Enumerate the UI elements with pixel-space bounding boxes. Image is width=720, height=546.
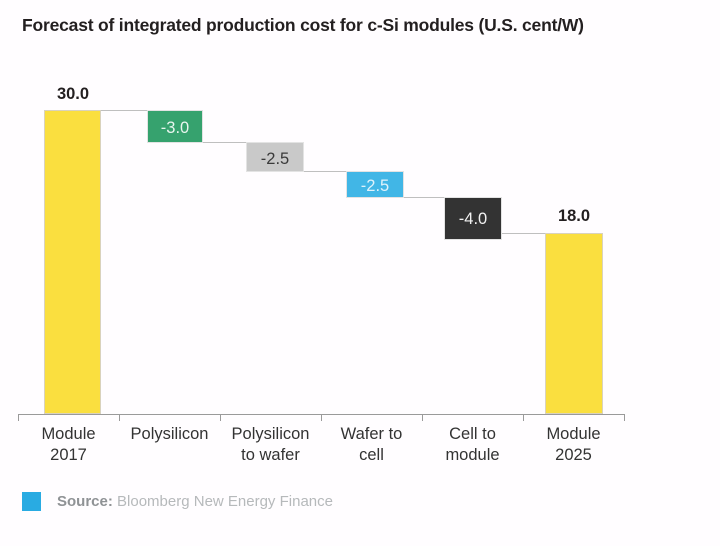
axis-label-line-2: 2025 xyxy=(523,445,624,466)
axis-label-line-2: cell xyxy=(321,445,422,466)
source-value: Bloomberg New Energy Finance xyxy=(113,493,333,510)
axis-label-module-2017: Module 2017 xyxy=(18,424,119,465)
axis-label-line-2: module xyxy=(422,445,523,466)
axis-tick-0 xyxy=(18,414,19,421)
axis-label-line-1: Module xyxy=(523,424,624,445)
axis-tick-6 xyxy=(624,414,625,421)
source-text: Source: Bloomberg New Energy Finance xyxy=(57,493,333,510)
source-label: Source: xyxy=(57,493,113,510)
bar-value-label-module-2017: 30.0 xyxy=(34,86,112,103)
bar-cell-to-module[interactable]: -4.0 xyxy=(444,197,502,240)
bar-value-label-polysilicon: -3.0 xyxy=(148,120,202,137)
axis-label-wafer-to-cell: Wafer to cell xyxy=(321,424,422,465)
axis-label-polysilicon: Polysilicon xyxy=(119,424,220,445)
bar-wafer-to-cell[interactable]: -2.5 xyxy=(346,171,404,198)
connector-2 xyxy=(202,142,247,143)
legend-swatch-icon xyxy=(22,492,41,511)
axis-label-polysilicon-to-wafer: Polysilicon to wafer xyxy=(220,424,321,465)
bar-value-label-polysilicon-to-wafer: -2.5 xyxy=(247,151,303,168)
axis-label-line-1: Cell to xyxy=(422,424,523,445)
axis-label-line-1: Polysilicon xyxy=(119,424,220,445)
axis-label-module-2025: Module 2025 xyxy=(523,424,624,465)
bar-value-label-wafer-to-cell: -2.5 xyxy=(347,178,403,195)
axis-label-line-1: Wafer to xyxy=(321,424,422,445)
connector-1 xyxy=(100,110,148,111)
connector-4 xyxy=(404,197,445,198)
source-row: Source: Bloomberg New Energy Finance xyxy=(22,492,333,511)
axis-label-line-1: Module xyxy=(18,424,119,445)
waterfall-chart-figure: Forecast of integrated production cost f… xyxy=(0,0,720,546)
bar-value-label-module-2025: 18.0 xyxy=(535,208,613,225)
bar-polysilicon[interactable]: -3.0 xyxy=(147,110,203,143)
axis-tick-2 xyxy=(220,414,221,421)
axis-label-line-2: to wafer xyxy=(220,445,321,466)
bar-module-2025[interactable] xyxy=(545,233,603,414)
axis-tick-3 xyxy=(321,414,322,421)
axis-label-line-2: 2017 xyxy=(18,445,119,466)
axis-label-line-1: Polysilicon xyxy=(220,424,321,445)
axis-tick-1 xyxy=(119,414,120,421)
bar-module-2017[interactable] xyxy=(44,110,101,414)
axis-tick-4 xyxy=(422,414,423,421)
bar-polysilicon-to-wafer[interactable]: -2.5 xyxy=(246,142,304,172)
connector-3 xyxy=(304,171,347,172)
axis-tick-5 xyxy=(523,414,524,421)
plot-area: 30.0 -3.0 -2.5 -2.5 -4.0 18.0 xyxy=(0,0,720,420)
axis-label-cell-to-module: Cell to module xyxy=(422,424,523,465)
connector-5 xyxy=(502,233,546,234)
bar-value-label-cell-to-module: -4.0 xyxy=(445,211,501,228)
